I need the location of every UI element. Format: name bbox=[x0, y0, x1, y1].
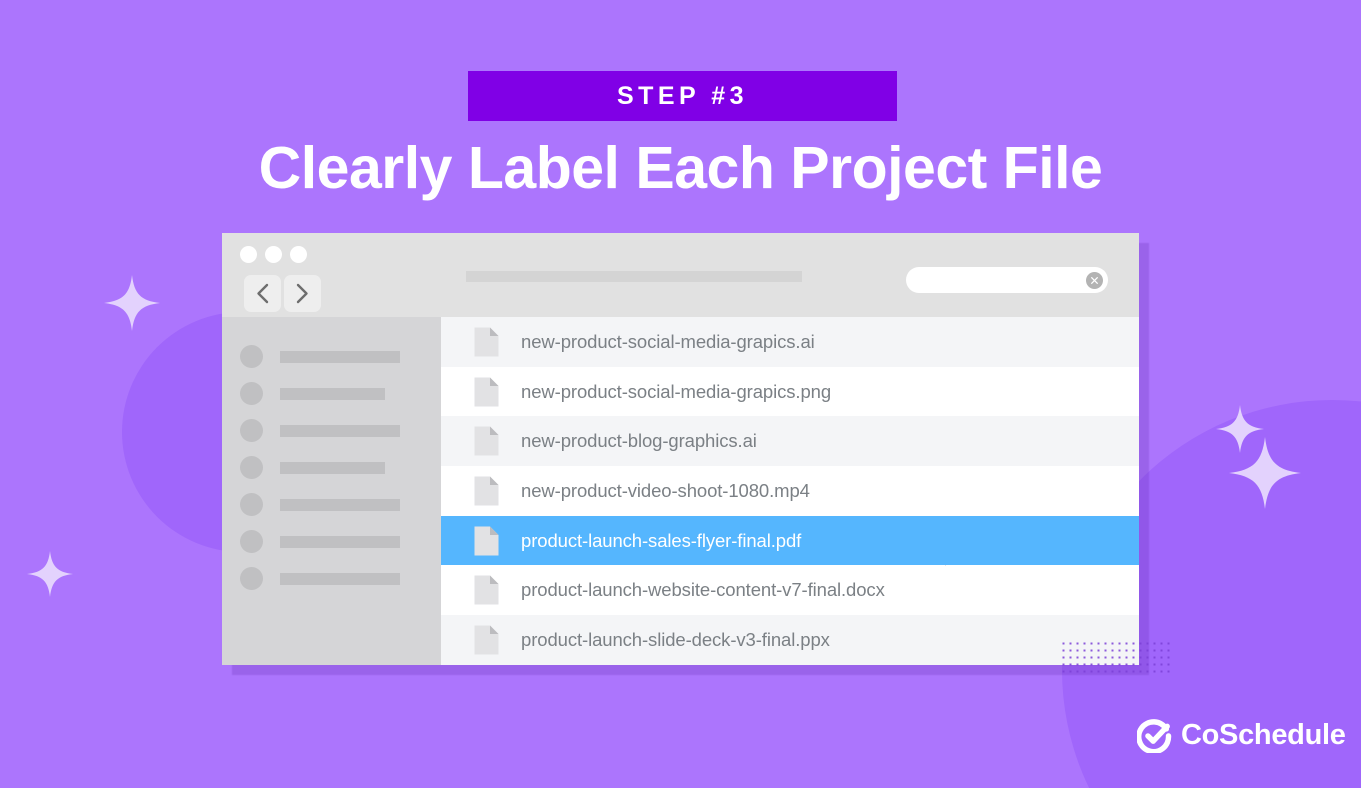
file-icon bbox=[474, 625, 499, 655]
file-icon bbox=[474, 327, 499, 357]
file-name: new-product-blog-graphics.ai bbox=[521, 430, 757, 452]
forward-button[interactable] bbox=[284, 275, 321, 312]
sidebar-item-0[interactable] bbox=[222, 338, 441, 375]
avatar bbox=[240, 530, 263, 553]
file-row[interactable]: new-product-blog-graphics.ai bbox=[441, 416, 1139, 466]
file-name: new-product-social-media-grapics.png bbox=[521, 381, 831, 403]
back-button[interactable] bbox=[244, 275, 281, 312]
file-row[interactable]: product-launch-slide-deck-v3-final.ppx bbox=[441, 615, 1139, 665]
file-name: product-launch-slide-deck-v3-final.ppx bbox=[521, 629, 830, 651]
coschedule-logo: CoSchedule bbox=[1137, 718, 1346, 753]
step-badge: STEP #3 bbox=[468, 71, 897, 121]
sparkle-icon bbox=[1229, 437, 1301, 509]
file-icon bbox=[474, 575, 499, 605]
search-input[interactable] bbox=[906, 267, 1108, 293]
address-bar[interactable] bbox=[466, 271, 802, 282]
window-minimize-button[interactable] bbox=[265, 246, 282, 263]
file-name: product-launch-website-content-v7-final.… bbox=[521, 579, 885, 601]
file-icon bbox=[474, 526, 499, 556]
window-body: new-product-social-media-grapics.ainew-p… bbox=[222, 317, 1139, 665]
window-maximize-button[interactable] bbox=[290, 246, 307, 263]
file-icon bbox=[474, 476, 499, 506]
poster-canvas: STEP #3 Clearly Label Each Project File bbox=[0, 0, 1361, 788]
file-icon bbox=[474, 377, 499, 407]
check-circle-icon bbox=[1137, 718, 1172, 753]
sidebar-item-6[interactable] bbox=[222, 560, 441, 597]
file-name: new-product-social-media-grapics.ai bbox=[521, 331, 815, 353]
chevron-right-icon bbox=[295, 283, 310, 304]
avatar bbox=[240, 382, 263, 405]
step-badge-label: STEP #3 bbox=[617, 82, 748, 111]
avatar bbox=[240, 493, 263, 516]
window-halftone-shadow bbox=[1060, 640, 1170, 676]
avatar bbox=[240, 345, 263, 368]
sparkle-icon bbox=[104, 275, 160, 331]
browser-window: new-product-social-media-grapics.ainew-p… bbox=[222, 233, 1139, 665]
sparkle-icon bbox=[27, 551, 73, 597]
file-row[interactable]: new-product-video-shoot-1080.mp4 bbox=[441, 466, 1139, 516]
sidebar-item-label bbox=[280, 573, 400, 585]
clear-search-icon[interactable] bbox=[1086, 272, 1103, 289]
chevron-left-icon bbox=[255, 283, 270, 304]
sidebar-item-1[interactable] bbox=[222, 375, 441, 412]
sidebar-item-2[interactable] bbox=[222, 412, 441, 449]
file-name: product-launch-sales-flyer-final.pdf bbox=[521, 530, 801, 552]
file-row[interactable]: product-launch-sales-flyer-final.pdf bbox=[441, 516, 1139, 566]
file-list: new-product-social-media-grapics.ainew-p… bbox=[441, 317, 1139, 665]
sidebar-item-label bbox=[280, 499, 400, 511]
window-titlebar bbox=[222, 233, 1139, 317]
sidebar-item-label bbox=[280, 536, 400, 548]
sidebar-item-label bbox=[280, 425, 400, 437]
sidebar-item-label bbox=[280, 351, 400, 363]
coschedule-wordmark: CoSchedule bbox=[1181, 719, 1346, 752]
file-row[interactable]: new-product-social-media-grapics.ai bbox=[441, 317, 1139, 367]
sidebar-item-label bbox=[280, 462, 385, 474]
sidebar-item-5[interactable] bbox=[222, 523, 441, 560]
file-row[interactable]: new-product-social-media-grapics.png bbox=[441, 367, 1139, 417]
sidebar-item-label bbox=[280, 388, 385, 400]
file-icon bbox=[474, 426, 499, 456]
avatar bbox=[240, 567, 263, 590]
avatar bbox=[240, 456, 263, 479]
sidebar-item-4[interactable] bbox=[222, 486, 441, 523]
avatar bbox=[240, 419, 263, 442]
page-title: Clearly Label Each Project File bbox=[0, 131, 1361, 205]
sidebar bbox=[222, 317, 441, 665]
file-name: new-product-video-shoot-1080.mp4 bbox=[521, 480, 810, 502]
window-close-button[interactable] bbox=[240, 246, 257, 263]
file-row[interactable]: product-launch-website-content-v7-final.… bbox=[441, 566, 1139, 616]
sidebar-item-3[interactable] bbox=[222, 449, 441, 486]
